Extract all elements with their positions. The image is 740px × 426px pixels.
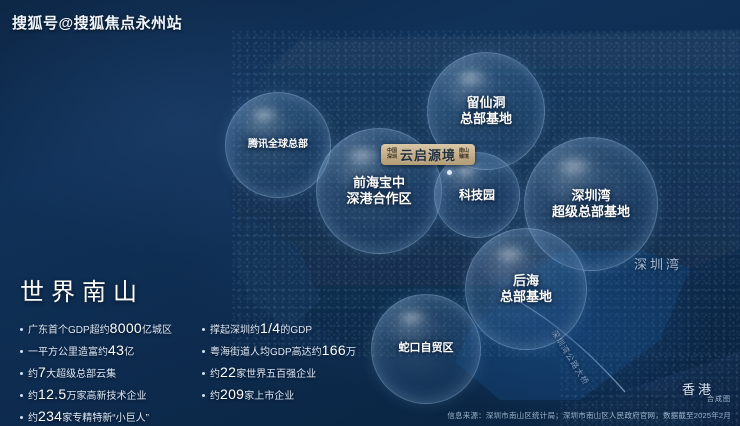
stat-bullet: 约209家上市企业	[202, 386, 350, 402]
bullet-dot-icon	[20, 350, 23, 353]
map-bubble-tencent-hq[interactable]: 腾讯全球总部	[225, 92, 331, 198]
bullet-dot-icon	[202, 372, 205, 375]
stat-prefix: 约	[28, 413, 38, 424]
map-bubble-label: 蛇口自贸区	[399, 342, 454, 356]
bullet-dot-icon	[20, 394, 23, 397]
stat-suffix: 万家高新技术企业	[66, 391, 146, 402]
stat-number: 234	[38, 408, 62, 424]
stat-number: 7	[38, 364, 46, 380]
stat-number: 43	[108, 342, 124, 358]
stat-prefix: 约	[210, 369, 220, 380]
stat-suffix: 亿城区	[142, 325, 172, 336]
stat-bullet-text: 约12.5万家高新技术企业	[28, 386, 146, 402]
stat-bullet-text: 广东首个GDP超约8000亿城区	[28, 320, 172, 336]
stat-suffix: 万	[346, 347, 356, 358]
badge-connector-dot	[447, 170, 452, 175]
stat-bullet-text: 粤海街道人均GDP高达约166万	[210, 342, 356, 358]
brand-badge-title: 云启源境	[400, 145, 456, 164]
stat-bullet: 撑起深圳约1/4的GDP	[202, 320, 350, 336]
stat-bullet: 粤海街道人均GDP高达约166万	[202, 342, 350, 358]
stat-prefix: 约	[210, 391, 220, 402]
brand-badge-side-left-bottom: 深圳	[387, 155, 397, 160]
stat-prefix: 约	[28, 369, 38, 380]
stat-bullet: 约7大超级总部云集	[20, 364, 194, 380]
stats-column-left: 广东首个GDP超约8000亿城区一平方公里造富约43亿约7大超级总部云集约12.…	[20, 320, 194, 424]
stat-suffix: 亿	[124, 347, 134, 358]
bullet-dot-icon	[20, 372, 23, 375]
brand-badge-side-left: 中国 深圳	[387, 149, 397, 160]
stat-bullet-text: 撑起深圳约1/4的GDP	[210, 320, 312, 336]
stats-column-right: 撑起深圳约1/4的GDP粤海街道人均GDP高达约166万约22家世界五百强企业约…	[202, 320, 350, 424]
stat-suffix: 家上市企业	[244, 391, 294, 402]
stat-prefix: 约	[28, 391, 38, 402]
stat-suffix: 大超级总部云集	[46, 369, 116, 380]
stat-bullet: 约22家世界五百强企业	[202, 364, 350, 380]
bullet-dot-icon	[20, 328, 23, 331]
stat-number: 8000	[110, 320, 142, 336]
map-bubble-shekou-ftz[interactable]: 蛇口自贸区	[371, 294, 481, 404]
stat-prefix: 撑起深圳约	[210, 325, 260, 336]
composite-image-note: 合成图	[707, 394, 731, 404]
stat-bullet-text: 约22家世界五百强企业	[210, 364, 316, 380]
stat-bullet: 约12.5万家高新技术企业	[20, 386, 194, 402]
stat-prefix: 粤海街道人均GDP高达约	[210, 347, 322, 358]
map-bubble-label: 后海 总部基地	[500, 273, 552, 306]
source-note: 信息来源：深圳市南山区统计局；深圳市南山区人民政府官网，数据截至2025年2月	[447, 410, 731, 421]
bullet-dot-icon	[202, 350, 205, 353]
stat-bullet: 约234家专精特新“小巨人”	[20, 408, 194, 424]
stat-bullet-text: 约234家专精特新“小巨人”	[28, 408, 149, 424]
stat-bullet: 广东首个GDP超约8000亿城区	[20, 320, 194, 336]
stat-number: 22	[220, 364, 236, 380]
stats-title: 世界南山	[20, 272, 350, 307]
stat-suffix: 家专精特新“小巨人”	[62, 413, 149, 424]
map-bubble-houhai-hq[interactable]: 后海 总部基地	[465, 228, 587, 350]
stat-number: 1/4	[260, 320, 280, 336]
map-bubble-label: 腾讯全球总部	[248, 139, 308, 152]
stat-number: 209	[220, 386, 244, 402]
stat-number: 12.5	[38, 386, 66, 402]
brand-badge-side-right: 南山 臻境	[459, 149, 469, 160]
watermark-text: 搜狐号@搜狐焦点永州站	[12, 12, 182, 33]
stat-suffix: 的GDP	[280, 325, 312, 336]
map-bubble-label: 深圳湾 超级总部基地	[552, 188, 630, 221]
stat-bullet: 一平方公里造富约43亿	[20, 342, 194, 358]
stat-bullet-text: 约209家上市企业	[210, 386, 294, 402]
stat-prefix: 一平方公里造富约	[28, 347, 108, 358]
map-bubble-label: 科技园	[459, 188, 495, 203]
map-bubble-label: 留仙洞 总部基地	[460, 95, 512, 128]
brand-badge-side-right-bottom: 臻境	[459, 155, 469, 160]
stat-bullet-text: 约7大超级总部云集	[28, 364, 116, 380]
stat-suffix: 家世界五百强企业	[236, 369, 316, 380]
geo-label-shenzhen-bay: 深圳湾	[634, 254, 682, 273]
bullet-dot-icon	[20, 416, 23, 419]
map-stage: 搜狐号@搜狐焦点永州站 留仙洞 总部基地腾讯全球总部前海宝中 深港合作区深圳湾 …	[0, 0, 740, 426]
stat-number: 166	[322, 342, 346, 358]
bullet-dot-icon	[202, 328, 205, 331]
bullet-dot-icon	[202, 394, 205, 397]
geo-label-bridge: 深圳湾公路大桥	[549, 328, 592, 387]
brand-badge[interactable]: 中国 深圳 云启源境 南山 臻境	[381, 144, 475, 165]
stat-bullet-text: 一平方公里造富约43亿	[28, 342, 134, 358]
stat-prefix: 广东首个GDP超约	[28, 325, 110, 336]
map-bubble-label: 前海宝中 深港合作区	[346, 175, 411, 208]
stats-columns: 广东首个GDP超约8000亿城区一平方公里造富约43亿约7大超级总部云集约12.…	[20, 320, 350, 424]
stats-panel: 世界南山 广东首个GDP超约8000亿城区一平方公里造富约43亿约7大超级总部云…	[20, 272, 350, 424]
